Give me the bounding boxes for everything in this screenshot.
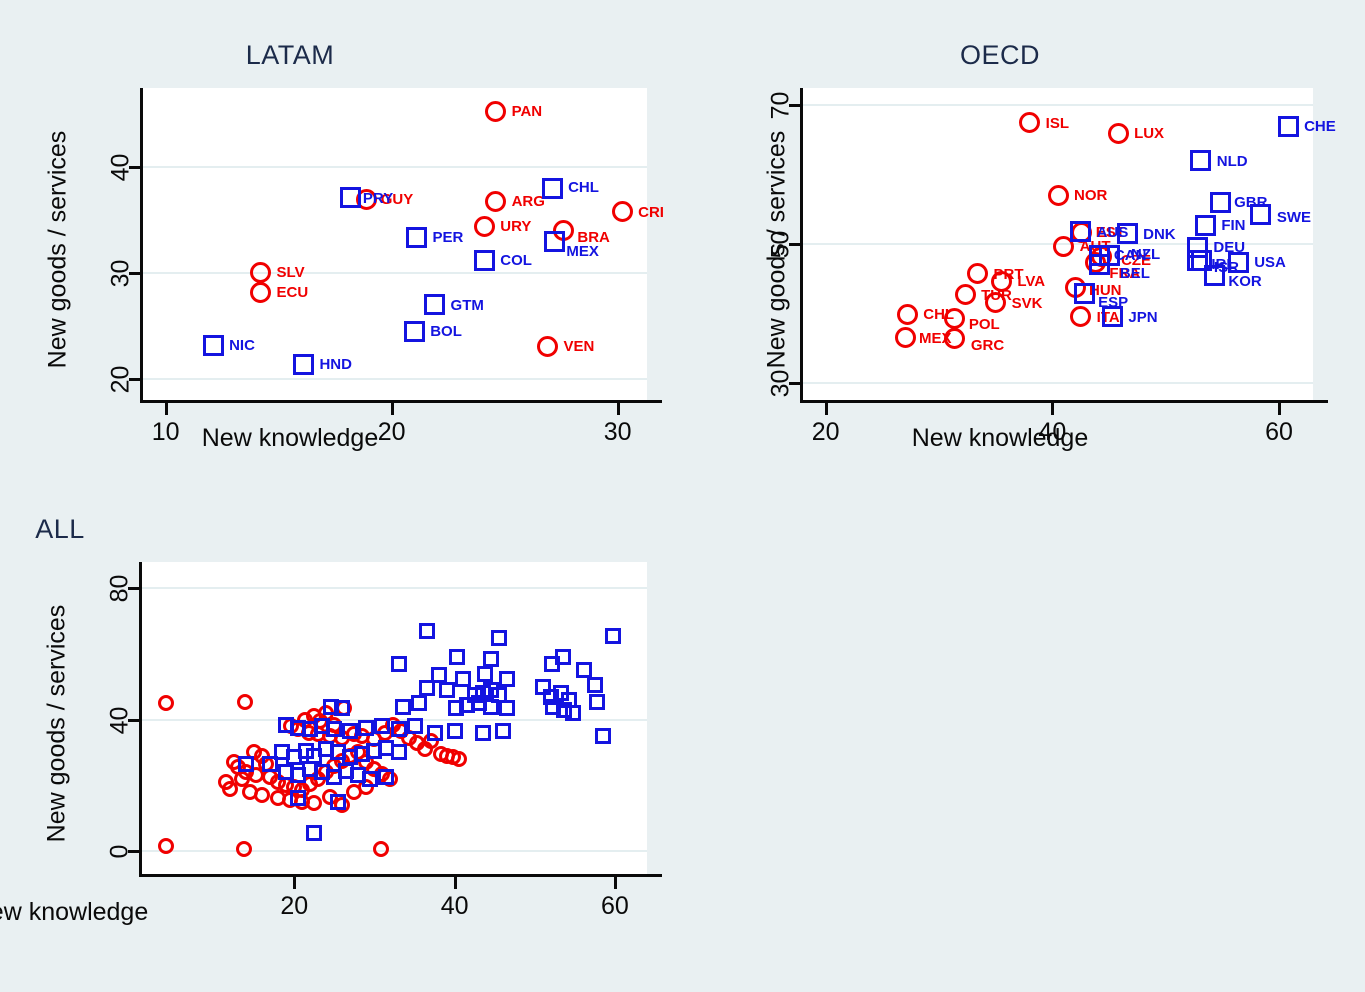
scatter-marker-square [1278,116,1299,137]
scatter-marker-square [404,321,425,342]
scatter-marker-square [424,294,445,315]
scatter-point-label: BOL [430,323,462,340]
x-tick [165,403,168,415]
scatter-marker-square [374,718,390,734]
scatter-marker-square [483,651,499,667]
gridline [143,378,647,380]
scatter-marker-circle [1019,112,1040,133]
scatter-marker-circle [158,838,174,854]
scatter-marker-square [587,677,603,693]
scatter-marker-circle [158,695,174,711]
y-tick-label: 40 [106,680,135,760]
scatter-marker-circle [222,781,238,797]
scatter-marker-circle [897,304,918,325]
scatter-marker-square [499,700,515,716]
scatter-marker-circle [254,787,270,803]
scatter-marker-square [362,771,378,787]
scatter-marker-square [306,825,322,841]
scatter-marker-square [342,723,358,739]
x-tick-label: 10 [126,418,206,447]
scatter-marker-square [595,728,611,744]
scatter-marker-circle [955,284,976,305]
scatter-marker-square [477,666,493,682]
scatter-marker-circle [944,328,965,349]
scatter-point-label: ARG [512,193,545,210]
y-tick-label: 50 [767,205,796,285]
all-y-axis-title: New goods / services [43,589,72,859]
gridline [143,272,647,274]
scatter-point-label: CHL [568,179,599,196]
scatter-marker-circle [306,795,322,811]
scatter-marker-square [499,671,515,687]
scatter-marker-square [1228,252,1249,273]
x-tick [454,877,457,889]
scatter-marker-square [1250,204,1271,225]
scatter-marker-square [449,649,465,665]
scatter-point-label: JPN [1128,309,1157,326]
scatter-marker-square [555,649,571,665]
x-tick-label: 20 [786,418,866,447]
scatter-marker-square [262,756,278,772]
scatter-point-label: USA [1254,254,1286,271]
scatter-point-label: GRC [971,337,1004,354]
scatter-marker-circle [250,262,271,283]
y-tick-label: 30 [767,343,796,423]
scatter-marker-square [495,723,511,739]
x-tick-label: 40 [1012,418,1092,447]
y-tick-label: 70 [767,66,796,146]
scatter-marker-square [358,720,374,736]
x-axis-line [139,874,662,877]
scatter-marker-circle [1048,185,1069,206]
x-tick-label: 40 [415,892,495,921]
scatter-marker-square [238,756,254,772]
scatter-marker-square [330,794,346,810]
x-tick [293,877,296,889]
y-tick-label: 80 [106,549,135,629]
gridline [142,850,647,852]
panel-all: ALL New goods / services New knowledge 0… [0,514,690,934]
scatter-point-label: NIC [229,337,255,354]
scatter-marker-square [411,695,427,711]
scatter-marker-square [419,623,435,639]
scatter-point-label: URY [500,218,531,235]
y-tick-label: 20 [107,339,136,419]
scatter-marker-square [395,699,411,715]
x-tick-label: 20 [254,892,334,921]
scatter-marker-circle [967,263,988,284]
scatter-point-label: ECU [277,284,309,301]
x-tick [1278,403,1281,415]
scatter-point-label: MEX [566,243,599,260]
scatter-marker-circle [985,292,1006,313]
scatter-point-label: PER [432,229,463,246]
scatter-marker-square [565,705,581,721]
scatter-marker-circle [237,694,253,710]
panel-latam: LATAM New goods / services New knowledge… [0,40,690,460]
scatter-marker-square [293,354,314,375]
y-axis-line [139,562,142,877]
x-tick-label: 30 [578,418,658,447]
scatter-point-label: SWE [1277,209,1311,226]
y-tick-label: 40 [107,128,136,208]
scatter-point-label: GTM [451,297,484,314]
x-tick [1051,403,1054,415]
scatter-marker-square [340,187,361,208]
scatter-marker-square [407,718,423,734]
scatter-marker-square [474,250,495,271]
scatter-marker-square [1089,254,1110,275]
y-tick-label: 30 [107,234,136,314]
x-tick [617,403,620,415]
scatter-marker-square [1070,221,1091,242]
scatter-marker-square [203,335,224,356]
scatter-point-label: DNK [1143,226,1176,243]
scatter-marker-square [1210,192,1231,213]
x-tick-label: 20 [352,418,432,447]
x-tick-label: 60 [1239,418,1319,447]
scatter-point-label: PRY [363,190,393,207]
scatter-point-label: ISL [1046,115,1069,132]
scatter-marker-square [605,628,621,644]
all-plot-area: 04080204060 [142,562,647,874]
scatter-marker-circle [895,327,916,348]
scatter-point-label: LUX [1134,125,1164,142]
scatter-point-label: KOR [1228,273,1261,290]
scatter-marker-circle [250,282,271,303]
scatter-marker-square [419,680,435,696]
scatter-marker-circle [537,336,558,357]
scatter-marker-square [483,699,499,715]
scatter-point-label: NZL [1131,246,1160,263]
scatter-marker-circle [373,841,389,857]
scatter-marker-square [334,700,350,716]
scatter-marker-circle [485,191,506,212]
scatter-marker-square [544,231,565,252]
scatter-marker-square [475,725,491,741]
scatter-marker-square [1102,306,1123,327]
scatter-point-label: VEN [564,338,595,355]
scatter-marker-circle [1070,306,1091,327]
scatter-marker-square [455,671,471,687]
all-title: ALL [0,514,405,545]
scatter-marker-square [326,721,342,737]
x-axis-line [140,400,662,403]
scatter-point-label: NLD [1217,153,1248,170]
scatter-point-label: SVK [1012,295,1043,312]
scatter-point-label: BEL [1120,265,1150,282]
scatter-point-label: FIN [1221,217,1245,234]
scatter-marker-square [406,227,427,248]
gridline [143,166,647,168]
scatter-point-label: COL [500,252,532,269]
scatter-marker-square [391,721,407,737]
scatter-marker-square [378,769,394,785]
latam-plot-area: 203040102030PANGUYARGCRIURYBRASLVECUVENC… [143,88,647,400]
scatter-marker-circle [612,201,633,222]
gridline [803,382,1313,384]
scatter-marker-square [1117,223,1138,244]
x-tick [614,877,617,889]
y-tick-label: 0 [106,812,135,892]
scatter-marker-square [439,682,455,698]
y-axis-line [140,88,143,403]
scatter-marker-square [1190,150,1211,171]
latam-title: LATAM [0,40,635,71]
scatter-marker-square [576,662,592,678]
x-tick [391,403,394,415]
latam-x-axis-title: New knowledge [0,424,635,453]
scatter-marker-circle [236,841,252,857]
scatter-marker-square [427,725,443,741]
scatter-point-label: PAN [512,103,543,120]
scatter-marker-square [542,178,563,199]
scatter-marker-square [1204,265,1225,286]
all-x-axis-title: New knowledge [0,898,405,927]
x-tick [825,403,828,415]
scatter-point-label: NOR [1074,187,1107,204]
scatter-point-label: LVA [1017,273,1045,290]
scatter-marker-square [447,723,463,739]
x-axis-line [800,400,1328,403]
scatter-marker-square [290,790,306,806]
scatter-marker-circle [1108,123,1129,144]
x-tick-label: 60 [575,892,655,921]
scatter-marker-circle [474,216,495,237]
scatter-point-label: HND [319,356,352,373]
scatter-marker-square [1074,283,1095,304]
scatter-marker-square [1195,215,1216,236]
latam-y-axis-title: New goods / services [44,115,73,385]
scatter-marker-square [491,630,507,646]
gridline [142,587,647,589]
oecd-title: OECD [650,40,1350,71]
scatter-marker-circle [485,101,506,122]
oecd-plot-area: 305070204060ISLLUXNORESTAUTCZEFRAPRTLVAH… [803,88,1313,400]
scatter-marker-square [391,744,407,760]
scatter-point-label: POL [969,316,1000,333]
scatter-marker-circle [944,308,965,329]
scatter-point-label: SLV [277,264,305,281]
panel-oecd: OECD New goods / services New knowledge … [660,40,1360,460]
scatter-marker-square [391,656,407,672]
scatter-marker-circle [451,751,467,767]
scatter-point-label: CHE [1304,118,1336,135]
y-axis-line [800,88,803,403]
scatter-marker-square [589,694,605,710]
gridline [803,104,1313,106]
